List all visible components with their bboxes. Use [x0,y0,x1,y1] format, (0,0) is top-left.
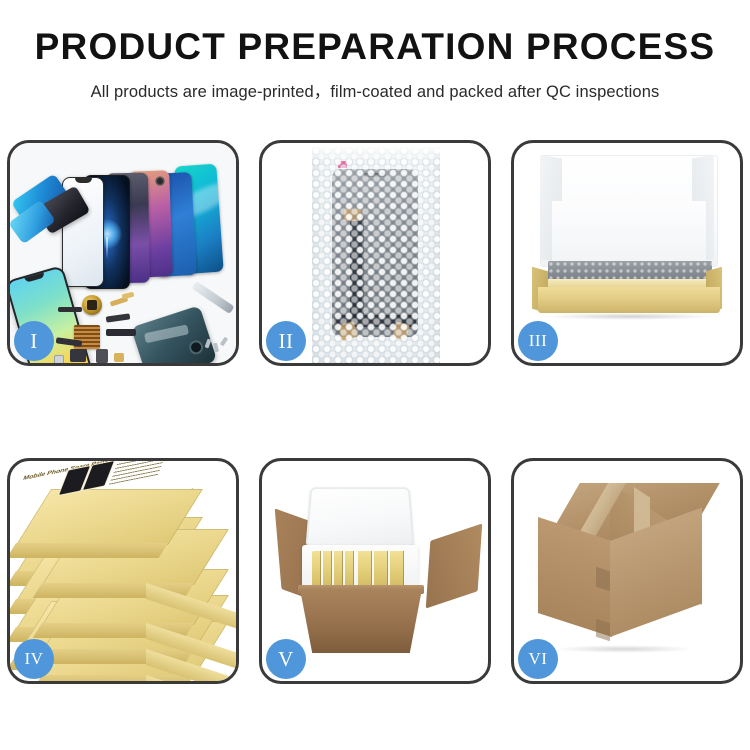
bubble-texture-overlay [312,147,440,363]
flex-cable-icon [106,329,136,336]
plastic-sheen [312,147,440,163]
side-button-flex-icon [114,353,124,362]
battery-connector-icon [70,349,86,362]
step-panel-2[interactable]: II [259,140,491,366]
shipping-carton-body [300,589,422,653]
step-badge-1: I [14,321,54,361]
step-panel-5[interactable]: V [259,458,491,684]
step-badge-2: II [266,321,306,361]
camera-module-icon [96,349,108,363]
carton-flap-right [426,523,482,608]
notch-icon [75,178,92,183]
box-inner-liner [552,201,706,263]
step-badge-5: V [266,639,306,679]
speaker-module-icon [82,295,102,315]
camera-lens-icon [155,176,164,185]
carton-shadow [554,645,694,653]
box-shadow [544,313,716,320]
carton-seam [596,619,610,642]
box-spec-lines [108,461,167,486]
page-header: PRODUCT PREPARATION PROCESS All products… [0,0,750,102]
box-front-panel [538,287,720,313]
step-badge-3: III [518,321,558,361]
page-subtitle: All products are image-printed，film-coat… [0,78,750,102]
notch-icon [24,272,45,282]
step-panel-3[interactable]: III [511,140,743,366]
step-badge-4: IV [14,639,54,679]
page-title: PRODUCT PREPARATION PROCESS [0,28,750,67]
step-panel-4[interactable]: Mobile Phone Spare Parts Mobile Phone Sp… [7,458,239,684]
box-side-face [10,543,168,558]
earpiece-bar-icon [58,307,82,312]
step-panel-1[interactable]: I [7,140,239,366]
sim-tray-icon [54,355,64,363]
step-panel-6[interactable]: VI [511,458,743,684]
box-side-face [33,675,194,681]
foam-box-lid [305,487,414,547]
bubble-wrap-bag [312,147,440,363]
process-step-grid: I II [0,140,750,684]
carton-seam [596,567,610,592]
step-badge-6: VI [518,639,558,679]
